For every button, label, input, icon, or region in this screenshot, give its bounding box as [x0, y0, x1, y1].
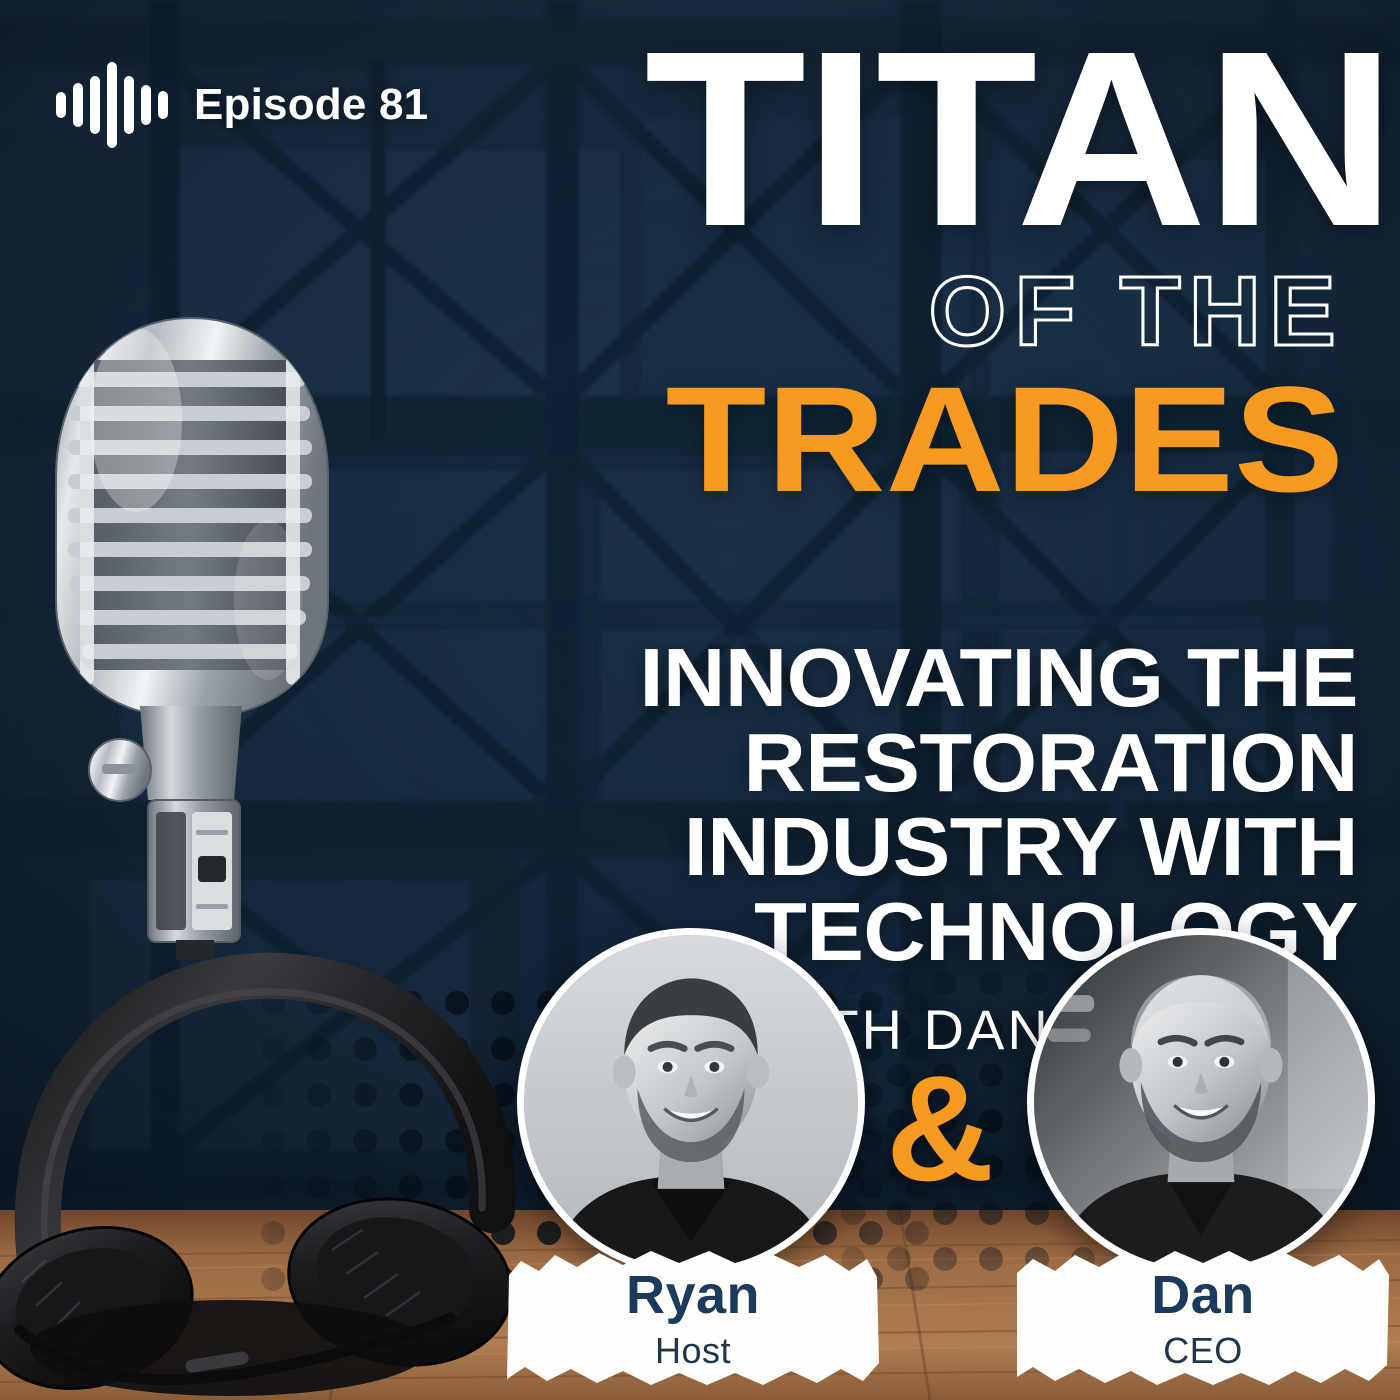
guest-role-dan: CEO [1163, 1330, 1243, 1372]
nameplate-dan: Dan CEO [1013, 1245, 1393, 1390]
portrait-ryan-icon [524, 935, 858, 1269]
avatar-ryan [517, 928, 865, 1276]
podcast-cover: Episode 81 TITANS OF THE TRADES INNOVATI… [0, 0, 1400, 1400]
guest-role-ryan: Host [655, 1330, 731, 1372]
guest-name-ryan: Ryan [626, 1264, 760, 1326]
nameplate-ryan: Ryan Host [503, 1245, 883, 1390]
portrait-dan-icon [1034, 935, 1368, 1269]
guest-list: Ryan Host [0, 0, 1400, 1400]
guest-name-dan: Dan [1151, 1264, 1255, 1326]
avatar-dan [1027, 928, 1375, 1276]
